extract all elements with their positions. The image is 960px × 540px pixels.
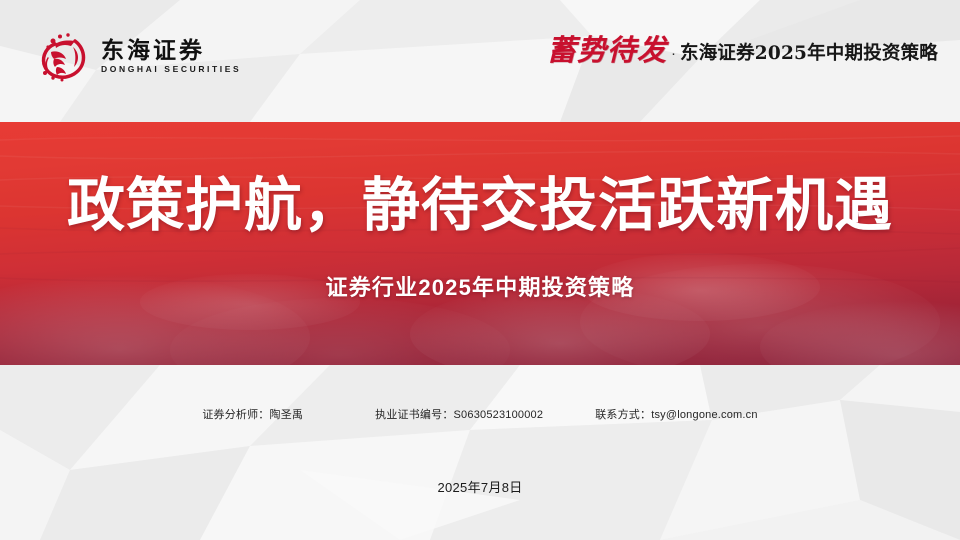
analyst-contact-email: 联系方式：tsy@longone.com.cn: [595, 410, 757, 421]
banner-streak-texture: [0, 122, 960, 365]
publication-date: 2025年7月8日: [0, 481, 960, 494]
page-title: 政策护航，静待交投活跃新机遇: [0, 176, 960, 234]
slide-header: 东海证券 DONGHAI SECURITIES 蓄势待发 · 东海证券2025年…: [0, 0, 960, 122]
brand-logo: 东海证券 DONGHAI SECURITIES: [40, 30, 241, 82]
campaign-brush-text: 蓄势待发: [547, 36, 667, 65]
campaign-series-title: 东海证券2025年中期投资策略: [680, 45, 938, 66]
analyst-name: 证券分析师：陶圣禹: [202, 410, 303, 421]
campaign-separator: ·: [670, 46, 677, 65]
author-metadata-row: 证券分析师：陶圣禹 执业证书编号：S0630523100002 联系方式：tsy…: [0, 410, 960, 421]
brand-name-cn: 东海证券: [101, 39, 241, 63]
campaign-banner: 蓄势待发 · 东海证券2025年中期投资策略: [547, 36, 938, 65]
donghai-dragon-seal-logo-icon: [40, 30, 90, 82]
brand-name-en: DONGHAI SECURITIES: [101, 65, 241, 74]
title-banner: [0, 122, 960, 365]
presentation-cover-slide: 东海证券 DONGHAI SECURITIES 蓄势待发 · 东海证券2025年…: [0, 0, 960, 540]
page-subtitle: 证券行业2025年中期投资策略: [0, 277, 960, 299]
analyst-license-number: 执业证书编号：S0630523100002: [375, 410, 543, 421]
